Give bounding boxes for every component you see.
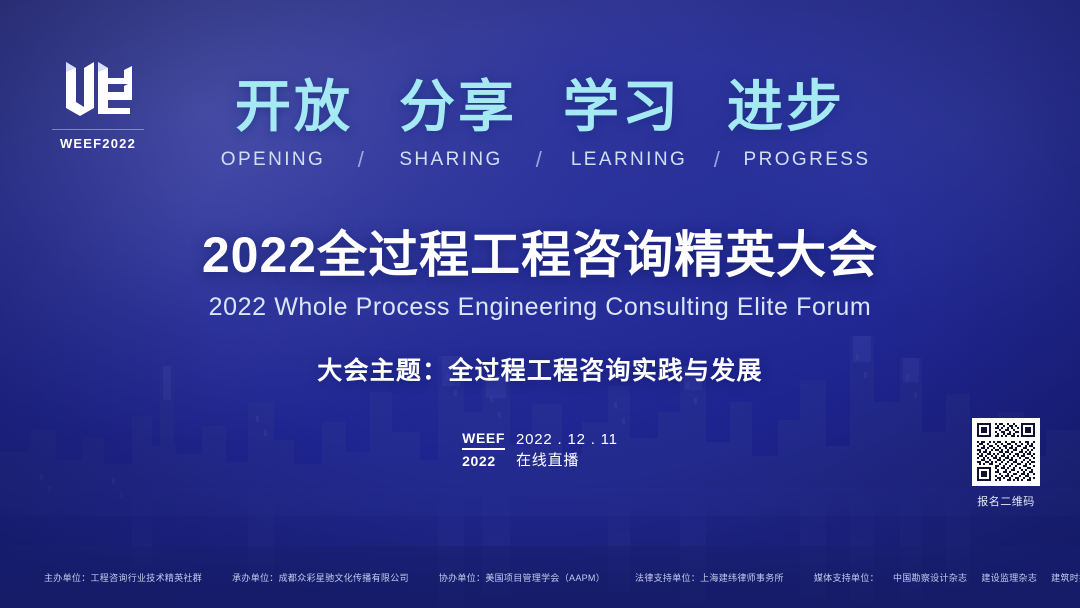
slogan-chinese: 开放 分享 学习 进步 <box>0 78 1080 137</box>
background-glow-right <box>620 0 1080 400</box>
footer-legal-support: 法律支持单位：上海建纬律师事务所 <box>635 571 784 584</box>
slogan-english: OPENING / SHARING / LEARNING / PROGRESS <box>0 147 1080 173</box>
event-title-block: 2022全过程工程咨询精英大会 2022 Whole Process Engin… <box>0 228 1080 322</box>
qr-caption: 报名二维码 <box>962 493 1050 509</box>
event-title-english: 2022 Whole Process Engineering Consultin… <box>0 293 1080 322</box>
slogan-cn-1: 开放 <box>235 78 353 137</box>
slogan-cn-4: 进步 <box>727 78 845 137</box>
footer-organizer: 主办单位：工程咨询行业技术精英社群 <box>44 571 202 584</box>
footer-media-label: 媒体支持单位： <box>814 571 879 584</box>
slogan-block: 开放 分享 学习 进步 OPENING / SHARING / LEARNING… <box>0 78 1080 173</box>
slogan-separator-3: / <box>705 147 731 173</box>
slogan-en-1: OPENING <box>197 149 349 171</box>
event-date-block: WEEF 2022 2022 . 12 . 11 在线直播 <box>0 430 1080 471</box>
date-weef-mark: WEEF 2022 <box>462 430 505 471</box>
event-title-chinese: 2022全过程工程咨询精英大会 <box>0 228 1080 283</box>
event-theme: 大会主题：全过程工程咨询实践与发展 <box>0 351 1080 387</box>
footer-co-organizer: 协办单位：美国项目管理学会（AAPM） <box>439 571 605 584</box>
registration-qr-block[interactable]: 报名二维码 <box>962 418 1050 509</box>
slogan-cn-3: 学习 <box>563 78 681 137</box>
footer-media-2: 建设监理杂志 <box>981 571 1037 584</box>
date-weef-bottom: 2022 <box>462 450 505 469</box>
date-weef-top: WEEF <box>462 430 505 450</box>
footer-credits: 主办单位：工程咨询行业技术精英社群 承办单位：成都众彩星驰文化传播有限公司 协办… <box>44 571 1036 584</box>
slogan-cn-2: 分享 <box>399 78 517 137</box>
qr-code-icon[interactable] <box>972 418 1040 486</box>
slogan-en-2: SHARING <box>375 149 527 171</box>
footer-undertaker: 承办单位：成都众彩星驰文化传播有限公司 <box>232 571 409 584</box>
slogan-en-3: LEARNING <box>553 149 705 171</box>
slogan-separator-1: / <box>349 147 375 173</box>
event-mode-value: 在线直播 <box>516 449 618 471</box>
conference-poster: WEEF2022 开放 分享 学习 进步 OPENING / SHARING /… <box>0 0 1080 608</box>
footer-media-1: 中国勘察设计杂志 <box>893 571 967 584</box>
slogan-en-4: PROGRESS <box>731 149 883 171</box>
event-date-value: 2022 . 12 . 11 <box>516 430 618 449</box>
footer-media-3: 建筑时报 <box>1051 571 1080 584</box>
slogan-separator-2: / <box>527 147 553 173</box>
date-details: 2022 . 12 . 11 在线直播 <box>516 430 618 471</box>
footer-bar: 主办单位：工程咨询行业技术精英社群 承办单位：成都众彩星驰文化传播有限公司 协办… <box>0 546 1080 608</box>
